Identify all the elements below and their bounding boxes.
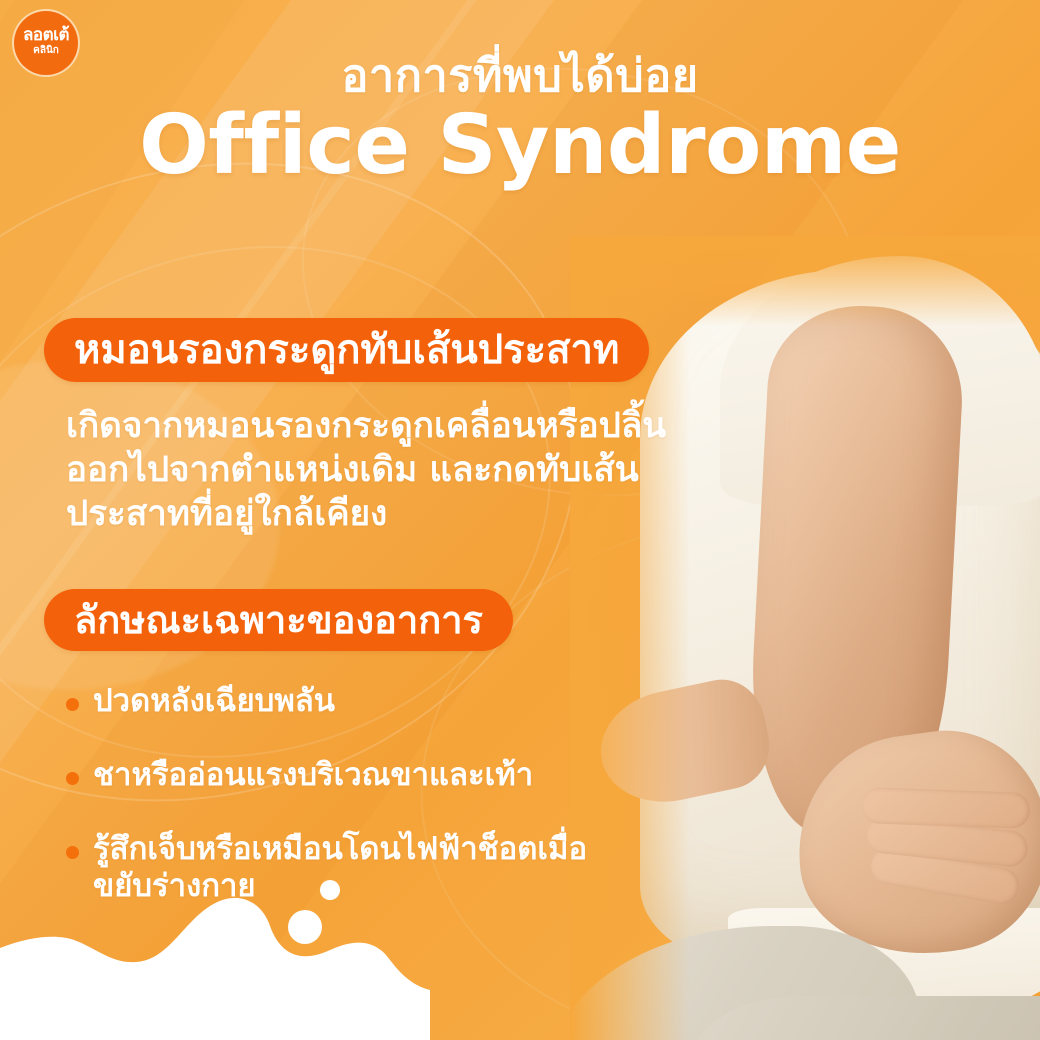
symptom-text: รู้สึกเจ็บหรือเหมือนโดนไฟฟ้าช็อตเมื่อขยั… bbox=[93, 831, 606, 907]
bullet-dot-icon bbox=[66, 698, 79, 711]
symptom-list: ปวดหลังเฉียบพลัน ชาหรืออ่อนแรงบริเวณขาแล… bbox=[66, 683, 606, 942]
symptom-text: ปวดหลังเฉียบพลัน bbox=[93, 683, 335, 721]
poster-canvas: ลอตเต้ คลินิก อาการที่พบได้บ่อย Office S… bbox=[0, 0, 1040, 1040]
bullet-dot-icon bbox=[66, 846, 79, 859]
condition-description: เกิดจากหมอนรองกระดูกเคลื่อนหรือปลิ้นออกไ… bbox=[66, 404, 696, 536]
page-title: Office Syndrome bbox=[0, 103, 1040, 189]
section-pill-symptoms: ลักษณะเฉพาะของอาการ bbox=[44, 589, 513, 651]
symptom-text: ชาหรืออ่อนแรงบริเวณขาและเท้า bbox=[93, 757, 533, 795]
header-kicker: อาการที่พบได้บ่อย bbox=[0, 52, 1040, 99]
list-item: ปวดหลังเฉียบพลัน bbox=[66, 683, 606, 721]
list-item: ชาหรืออ่อนแรงบริเวณขาและเท้า bbox=[66, 757, 606, 795]
section-pill-condition: หมอนรองกระดูกทับเส้นประสาท bbox=[44, 318, 649, 382]
header: อาการที่พบได้บ่อย Office Syndrome bbox=[0, 52, 1040, 189]
list-item: รู้สึกเจ็บหรือเหมือนโดนไฟฟ้าช็อตเมื่อขยั… bbox=[66, 831, 606, 907]
bullet-dot-icon bbox=[66, 772, 79, 785]
